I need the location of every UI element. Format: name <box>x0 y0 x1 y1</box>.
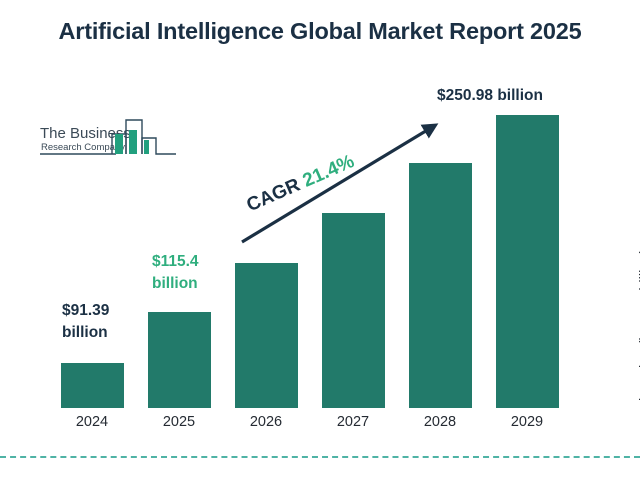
xtick-2024: 2024 <box>49 414 135 430</box>
value-label-2029: $250.98 billion <box>437 85 543 107</box>
value-label-2024: $91.39 billion <box>62 300 109 345</box>
ai-market-report-infographic: Artificial Intelligence Global Market Re… <box>0 0 640 480</box>
bar-2025 <box>148 312 211 408</box>
chart-plot-area: $91.39 billion $115.4 billion $250.98 bi… <box>0 0 640 480</box>
bar-2029 <box>496 115 559 408</box>
xtick-2026: 2026 <box>223 414 309 430</box>
bar-2024 <box>61 363 124 408</box>
bar-2026 <box>235 263 298 408</box>
xtick-2027: 2027 <box>310 414 396 430</box>
xtick-2025: 2025 <box>136 414 222 430</box>
bottom-divider <box>0 456 640 458</box>
value-label-2025: $115.4 billion <box>152 251 199 296</box>
xtick-2029: 2029 <box>484 414 570 430</box>
growth-arrow-icon <box>236 112 452 248</box>
xtick-2028: 2028 <box>397 414 483 430</box>
